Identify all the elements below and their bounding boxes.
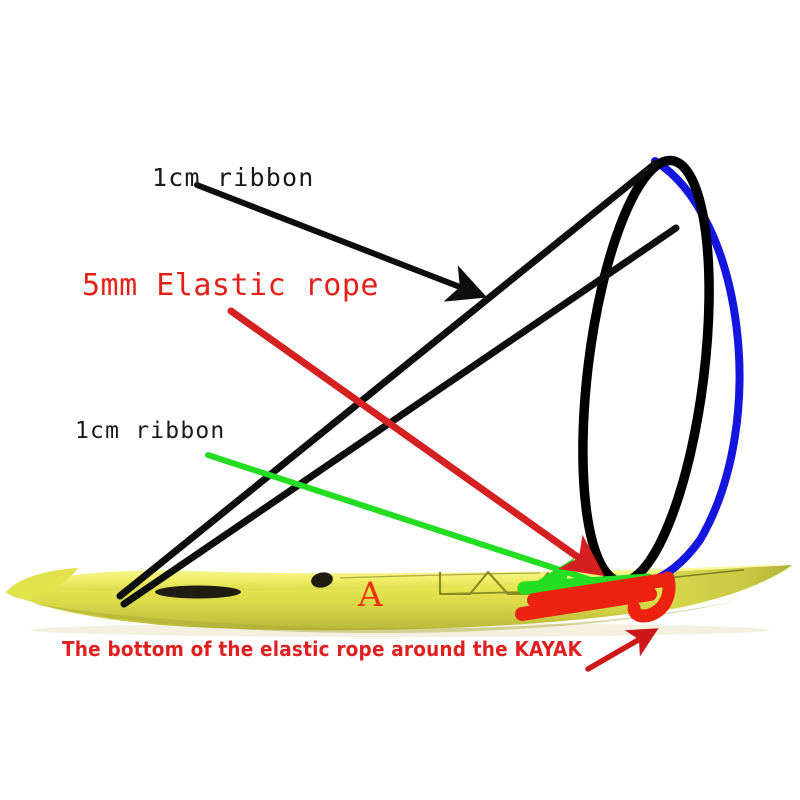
bottom-note-arrow[interactable] bbox=[588, 632, 652, 669]
elastic-rope-dot-2 bbox=[629, 605, 639, 615]
green-ribbon-line bbox=[208, 455, 600, 583]
kayak-rigging-diagram: 1cm ribbon 5mm Elastic rope 1cm ribbon A… bbox=[0, 0, 800, 800]
elastic-rope-dot-1 bbox=[613, 591, 625, 603]
elastic-rope-pointer[interactable] bbox=[231, 311, 596, 570]
ribbon-line-upper bbox=[120, 163, 656, 596]
diagram-canvas bbox=[0, 0, 800, 800]
blue-batten-arc bbox=[648, 161, 739, 582]
kayak-hatch-oval bbox=[155, 586, 241, 599]
ribbon-top-arrow[interactable] bbox=[197, 185, 478, 294]
